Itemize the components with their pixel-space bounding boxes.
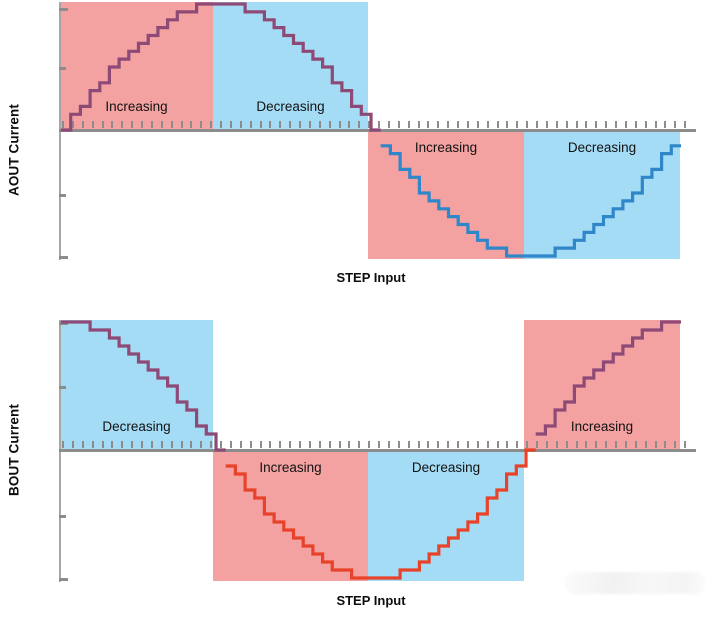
curve-segment (536, 322, 681, 434)
region-label-increasing-neg-b: Increasing (213, 460, 368, 475)
region-label-increasing-pos: Increasing (60, 99, 213, 114)
region-label-increasing-neg: Increasing (368, 140, 524, 155)
region-label-decreasing-pos: Decreasing (213, 99, 368, 114)
curve-segment (381, 146, 681, 256)
region-label-decreasing-pos-b: Decreasing (60, 419, 213, 434)
x-axis-title-aout: STEP Input (281, 270, 461, 285)
region-label-increasing-pos-b: Increasing (524, 419, 680, 434)
faint-watermark (565, 572, 705, 594)
x-axis-title-bout: STEP Input (281, 593, 461, 608)
region-label-decreasing-neg: Decreasing (524, 140, 680, 155)
chart-bout-current: BOUT Current Decreasing Increasing Decre… (0, 300, 712, 623)
region-label-decreasing-neg-b: Decreasing (368, 460, 524, 475)
chart-aout-current: AOUT Current Increasing Decreasing Incre… (0, 0, 712, 300)
